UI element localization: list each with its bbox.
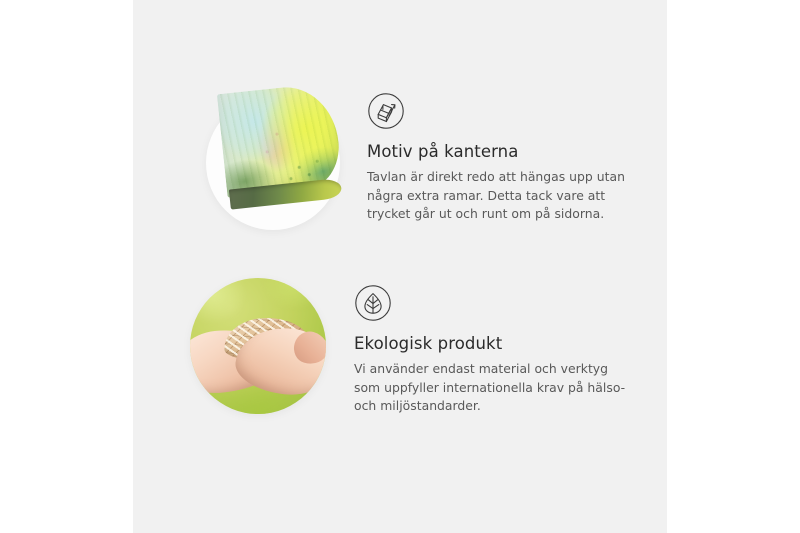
canvas-print-block: [217, 82, 345, 217]
leaf-eco-icon: [354, 284, 392, 322]
canvas-wrapped-edges-icon: [367, 92, 405, 130]
feature-title: Ekologisk produkt: [354, 334, 638, 354]
hands-holding-wood-chips-photo: [190, 278, 326, 414]
canvas-print-corner-photo: [187, 88, 339, 240]
feature-block-ekologisk-produkt: Ekologisk produkt Vi använder endast mat…: [190, 278, 638, 416]
product-feature-infographic: Motiv på kanterna Tavlan är direkt redo …: [0, 0, 800, 533]
feature-block-motiv-pa-kanterna: Motiv på kanterna Tavlan är direkt redo …: [187, 80, 651, 240]
feature-copy: Motiv på kanterna Tavlan är direkt redo …: [367, 80, 651, 224]
feature-description: Tavlan är direkt redo att hängas upp uta…: [367, 168, 651, 225]
feature-description: Vi använder endast material och verktyg …: [354, 360, 638, 417]
feature-title: Motiv på kanterna: [367, 142, 651, 162]
feature-copy: Ekologisk produkt Vi använder endast mat…: [354, 278, 638, 416]
